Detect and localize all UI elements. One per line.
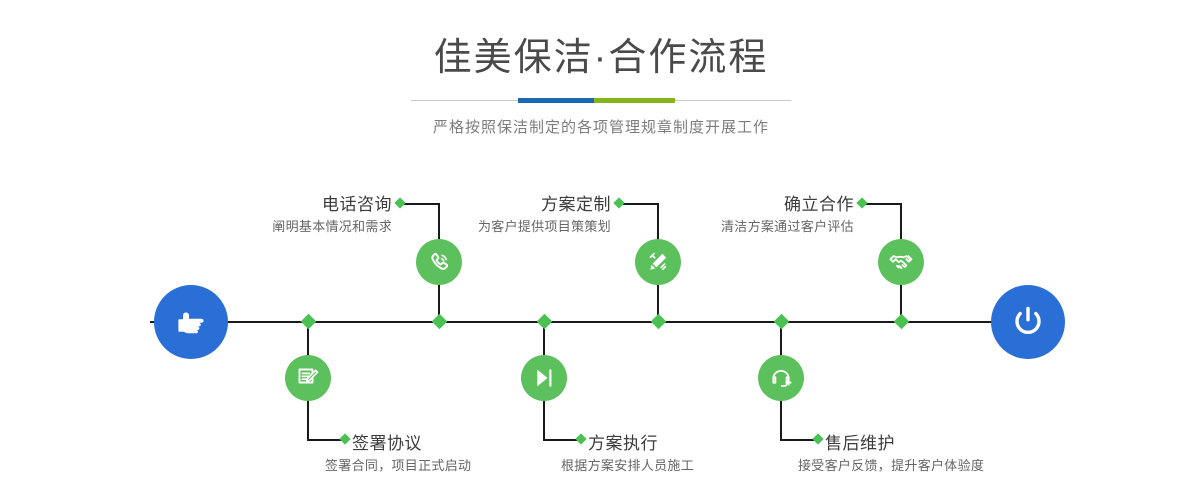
axis-diamond-marker xyxy=(432,314,448,330)
connector-diamond-label xyxy=(339,433,350,444)
step-desc-bottom-3: 接受客户反馈，提升客户体验度 xyxy=(798,455,984,474)
step-icon-sign-agreement[interactable] xyxy=(285,355,331,401)
step-icon-handshake[interactable] xyxy=(878,239,924,285)
handshake-icon xyxy=(887,248,915,276)
connector-horizontal xyxy=(543,439,580,441)
pencil-edit-icon xyxy=(644,248,672,276)
flow-end-node[interactable] xyxy=(991,285,1065,359)
step-title-bottom-3: 售后维护 xyxy=(825,429,895,454)
axis-diamond-marker xyxy=(537,314,553,330)
step-icon-plan-execution[interactable] xyxy=(521,355,567,401)
step-desc-top-2: 为客户提供项目策策划 xyxy=(375,216,611,235)
axis-diamond-marker xyxy=(774,314,790,330)
connector-diamond-label xyxy=(394,197,405,208)
connector-diamond-label xyxy=(856,197,867,208)
step-desc-top-3: 清洁方案通过客户评估 xyxy=(608,216,854,235)
customer-service-icon xyxy=(767,364,795,392)
step-title-top-1: 电话咨询 xyxy=(186,190,392,215)
timeline-axis xyxy=(150,321,1052,323)
step-icon-phone-call[interactable] xyxy=(416,239,462,285)
cooperation-process-infographic: 佳美保洁·合作流程 严格按照保洁制定的各项管理规章制度开展工作 xyxy=(0,0,1202,502)
connector-horizontal xyxy=(780,439,817,441)
step-title-bottom-2: 方案执行 xyxy=(588,429,658,454)
step-title-bottom-1: 签署协议 xyxy=(352,429,422,454)
step-title-top-2: 方案定制 xyxy=(405,190,611,215)
pointing-hand-icon xyxy=(171,302,211,342)
step-title-top-3: 确立合作 xyxy=(648,190,854,215)
connector-diamond-label xyxy=(575,433,586,444)
step-icon-after-sales[interactable] xyxy=(758,355,804,401)
connector-diamond-label xyxy=(812,433,823,444)
step-desc-top-1: 阐明基本情况和需求 xyxy=(156,216,392,235)
document-pen-icon xyxy=(294,364,322,392)
flow-start-node[interactable] xyxy=(154,285,228,359)
step-icon-plan-customization[interactable] xyxy=(635,239,681,285)
step-desc-bottom-2: 根据方案安排人员施工 xyxy=(561,455,694,474)
connector-diamond-label xyxy=(613,197,624,208)
axis-diamond-marker xyxy=(301,314,317,330)
connector-horizontal xyxy=(866,203,902,205)
play-execute-icon xyxy=(530,364,558,392)
axis-diamond-marker xyxy=(894,314,910,330)
step-desc-bottom-1: 签署合同，项目正式启动 xyxy=(325,455,471,474)
phone-call-icon xyxy=(425,248,453,276)
connector-horizontal xyxy=(307,439,344,441)
power-icon xyxy=(1007,301,1049,343)
process-flow: 电话咨询 阐明基本情况和需求 方案定制 为客户提供项目策策划 xyxy=(0,0,1202,502)
axis-diamond-marker xyxy=(651,314,667,330)
